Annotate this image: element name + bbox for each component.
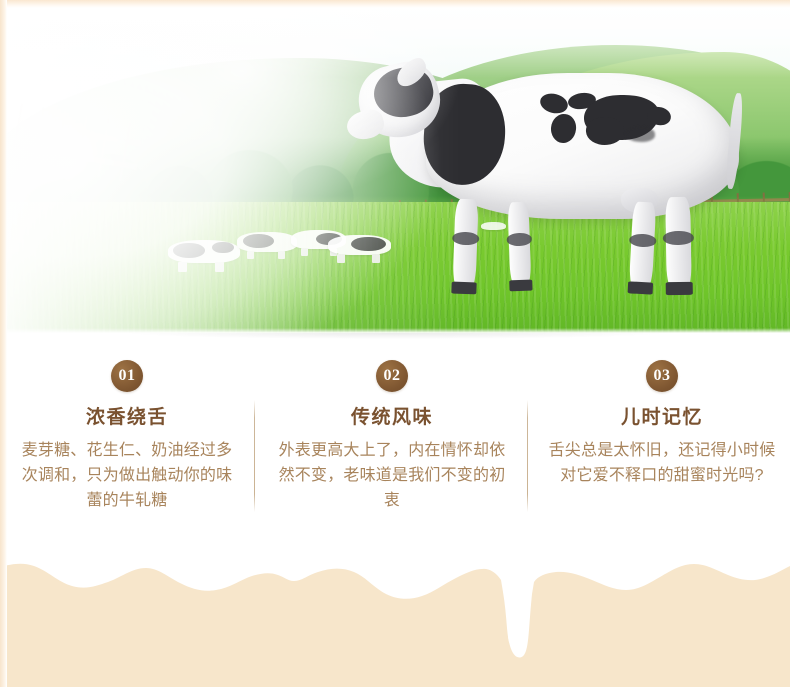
product-detail-page: 01 浓香绕舌 麦芽糖、花生仁、奶油经过多次调和，只为做出触动你的味蕾的牛轧糖 … xyxy=(0,0,790,687)
milk-wave-svg xyxy=(0,520,790,687)
feature-desc-3: 舌尖总是太怀旧，还记得小时候对它爱不释口的甜蜜时光吗? xyxy=(540,438,784,488)
banner-drop-shadow xyxy=(20,333,772,347)
feature-section: 01 浓香绕舌 麦芽糖、花生仁、奶油经过多次调和，只为做出触动你的味蕾的牛轧糖 … xyxy=(0,352,790,524)
hero-banner xyxy=(7,6,790,333)
feature-title-2: 传统风味 xyxy=(268,402,516,429)
feature-desc-1: 麦芽糖、花生仁、奶油经过多次调和，只为做出触动你的味蕾的牛轧糖 xyxy=(8,438,246,513)
milk-cream-decoration xyxy=(0,520,790,687)
feature-number-badge-2: 02 xyxy=(376,360,408,392)
feature-number-badge-3: 03 xyxy=(646,360,678,392)
page-top-edge-tint xyxy=(0,0,790,8)
feature-divider-1 xyxy=(254,400,255,512)
feature-title-3: 儿时记忆 xyxy=(540,402,784,429)
feature-divider-2 xyxy=(527,400,528,512)
cream-wave-shape xyxy=(0,564,790,687)
feature-column-3: 03 儿时记忆 舌尖总是太怀旧，还记得小时候对它爱不释口的甜蜜时光吗? xyxy=(540,352,784,488)
feature-column-2: 02 传统风味 外表更高大上了，内在情怀却依然不变，老味道是我们不变的初衷 xyxy=(268,352,516,513)
hero-banner-image xyxy=(7,6,790,333)
feature-column-1: 01 浓香绕舌 麦芽糖、花生仁、奶油经过多次调和，只为做出触动你的味蕾的牛轧糖 xyxy=(8,352,246,513)
feature-title-1: 浓香绕舌 xyxy=(8,402,246,429)
top-fade-overlay xyxy=(7,6,790,78)
feature-number-badge-1: 01 xyxy=(111,360,143,392)
page-left-edge-tint xyxy=(0,0,7,687)
feature-desc-2: 外表更高大上了，内在情怀却依然不变，老味道是我们不变的初衷 xyxy=(268,438,516,513)
